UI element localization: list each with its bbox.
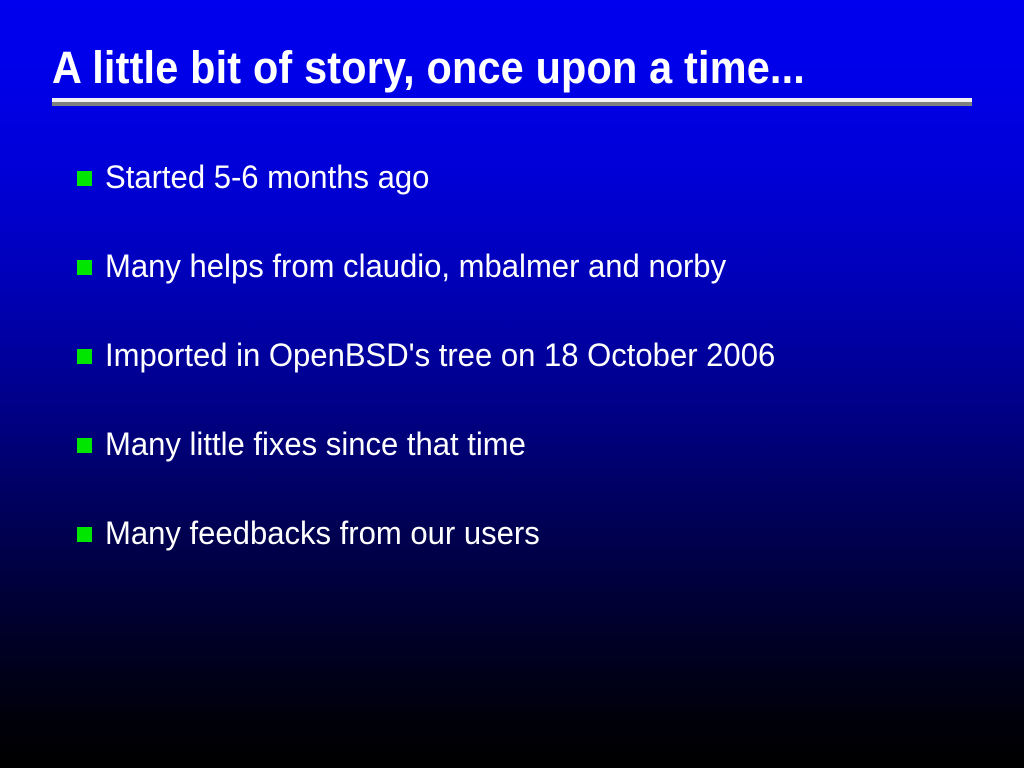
list-item: Many feedbacks from our users (0, 512, 1024, 601)
list-item-label: Imported in OpenBSD's tree on 18 October… (105, 334, 775, 376)
page-title: A little bit of story, once upon a time.… (52, 42, 898, 94)
list-item: Many helps from claudio, mbalmer and nor… (0, 245, 1024, 334)
bullet-list: Started 5-6 months ago Many helps from c… (0, 156, 1024, 601)
list-item-label: Started 5-6 months ago (105, 156, 429, 198)
divider-shadow-line (52, 102, 972, 106)
slide-title-block: A little bit of story, once upon a time.… (52, 42, 972, 94)
square-bullet-icon (77, 260, 92, 275)
square-bullet-icon (77, 527, 92, 542)
title-divider (52, 98, 972, 107)
square-bullet-icon (77, 171, 92, 186)
list-item-label: Many feedbacks from our users (105, 512, 540, 554)
list-item-label: Many helps from claudio, mbalmer and nor… (105, 245, 726, 287)
list-item: Many little fixes since that time (0, 423, 1024, 512)
presentation-slide: A little bit of story, once upon a time.… (0, 0, 1024, 768)
list-item: Started 5-6 months ago (0, 156, 1024, 245)
square-bullet-icon (77, 349, 92, 364)
list-item: Imported in OpenBSD's tree on 18 October… (0, 334, 1024, 423)
square-bullet-icon (77, 438, 92, 453)
list-item-label: Many little fixes since that time (105, 423, 526, 465)
